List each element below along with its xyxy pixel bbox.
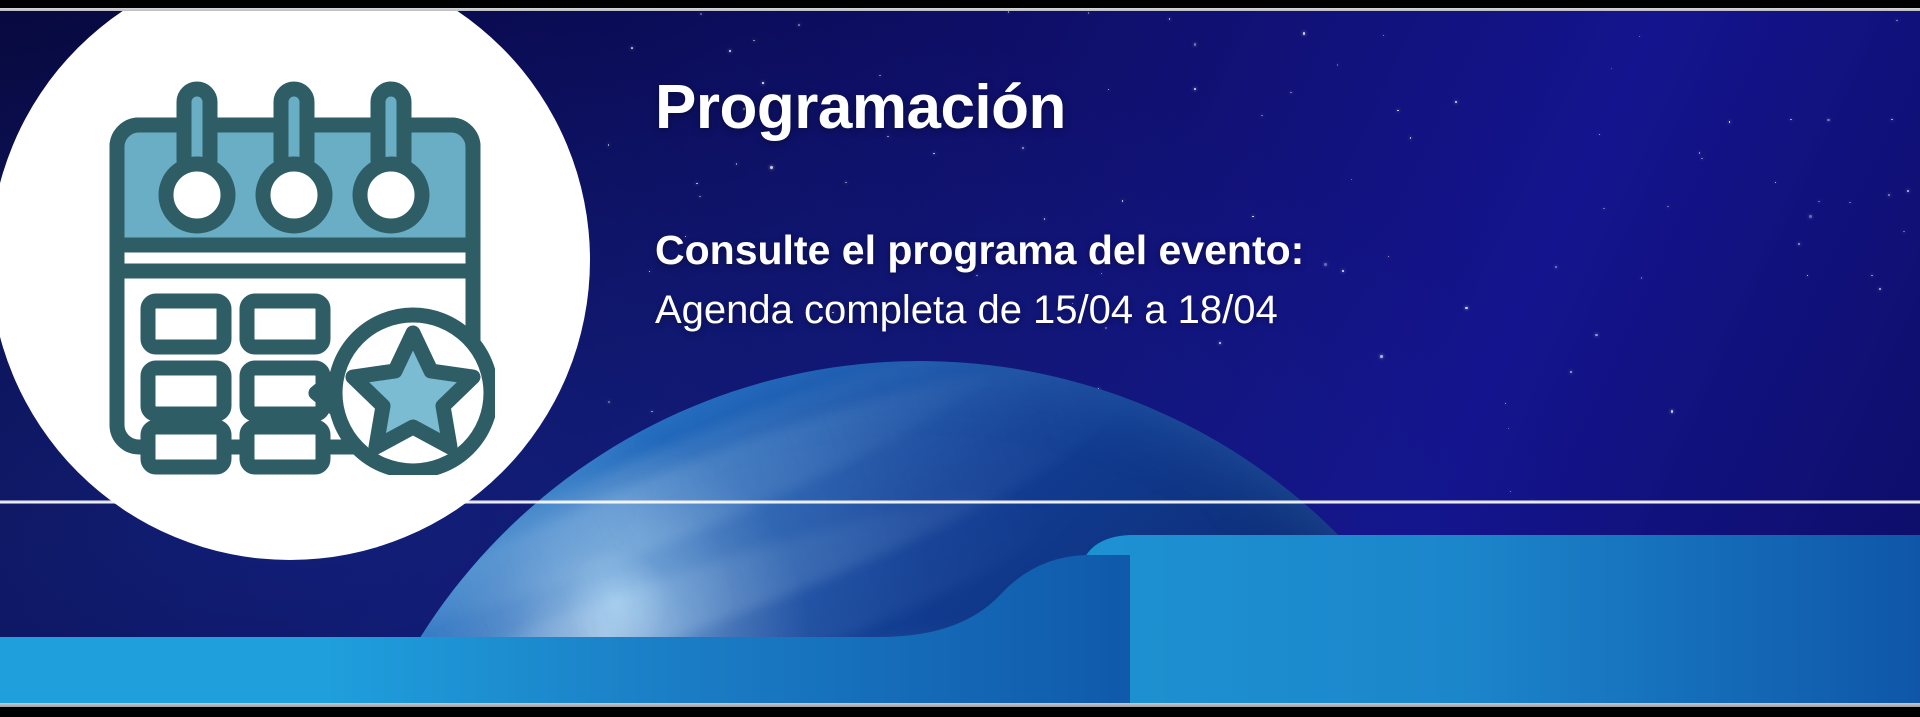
banner-text-block: Programación Consulte el programa del ev… (655, 75, 1835, 334)
event-schedule-banner: Programación Consulte el programa del ev… (0, 0, 1920, 717)
top-divider-rule (0, 8, 1920, 11)
page-title: Programación (655, 75, 1835, 142)
bottom-divider-rule (0, 703, 1920, 707)
letterbox-bottom-band (0, 707, 1920, 717)
banner-subtitle: Consulte el programa del evento: (655, 226, 1835, 274)
letterbox-top-band (0, 0, 1920, 8)
calendar-star-icon (95, 75, 495, 475)
banner-body-text: Agenda completa de 15/04 a 18/04 (655, 286, 1835, 334)
